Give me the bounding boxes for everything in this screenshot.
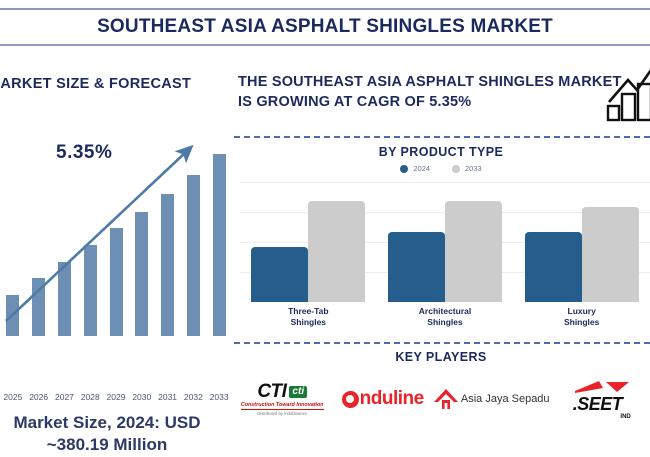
- forecast-bar-column: [52, 136, 78, 336]
- forecast-bar-column: [180, 136, 206, 336]
- forecast-bar: [110, 228, 123, 336]
- asia-jaya-wordmark: Asia Jaya Sepadu: [461, 393, 550, 405]
- market-size-value: Market Size, 2024: USD ~380.19 Million: [0, 412, 232, 457]
- market-size-heading: MARKET SIZE & FORECAST: [0, 76, 191, 92]
- product-category-label: Three-TabShingles: [240, 306, 377, 327]
- player-logo-onduline: nduline: [332, 370, 432, 428]
- legend-label: 2033: [465, 164, 482, 173]
- cti-badge: cti: [289, 386, 307, 398]
- forecast-bar: [6, 295, 19, 336]
- product-category-label: LuxuryShingles: [513, 306, 650, 327]
- forecast-bar: [32, 278, 45, 336]
- forecast-bar-column: [129, 136, 155, 336]
- forecast-bar-column: [0, 136, 26, 336]
- forecast-bar-column: [206, 136, 232, 336]
- product-type-title: BY PRODUCT TYPE: [232, 145, 650, 159]
- forecast-bar-column: [77, 136, 103, 336]
- divider-bottom: [234, 342, 650, 344]
- product-bar: [388, 232, 445, 302]
- seet-wordmark: .SEET: [573, 395, 623, 413]
- forecast-bar-column: [103, 136, 129, 336]
- headline-text: THE SOUTHEAST ASIA ASPHALT SHINGLES MARK…: [238, 72, 628, 112]
- forecast-bar: [213, 154, 226, 336]
- legend-item: 2024: [400, 164, 430, 173]
- product-bar: [582, 207, 639, 302]
- forecast-bar-column: [26, 136, 52, 336]
- forecast-bar: [58, 262, 71, 336]
- legend-color-dot: [452, 165, 460, 173]
- key-players-row: CTI cti Construction Toward Innovation D…: [232, 370, 650, 428]
- player-logo-asia-jaya-sepadu: Asia Jaya Sepadu: [433, 370, 550, 428]
- player-logo-seet: .SEET IND: [550, 370, 650, 428]
- divider-top: [234, 136, 650, 138]
- forecast-bar-column: [155, 136, 181, 336]
- forecast-bar: [161, 194, 174, 336]
- product-category-labels: Three-TabShinglesArchitecturalShinglesLu…: [240, 306, 650, 327]
- product-bar-group: [240, 182, 377, 302]
- key-players-title: KEY PLAYERS: [232, 350, 650, 364]
- market-forecast-chart: [0, 116, 232, 336]
- onduline-wordmark: nduline: [360, 388, 424, 410]
- forecast-year-label: 2029: [103, 392, 129, 402]
- legend-label: 2024: [413, 164, 430, 173]
- product-bar: [251, 247, 308, 302]
- seet-roof-icon: [573, 379, 631, 395]
- forecast-bars: [0, 136, 232, 336]
- forecast-year-labels: 202520262027202820292030203120322033: [0, 392, 232, 402]
- legend-color-dot: [400, 165, 408, 173]
- forecast-bar: [187, 175, 200, 336]
- player-logo-cti: CTI cti Construction Toward Innovation D…: [232, 370, 332, 428]
- market-size-line-1: Market Size, 2024: USD: [0, 412, 232, 434]
- forecast-year-label: 2031: [155, 392, 181, 402]
- product-type-chart: [240, 182, 650, 302]
- cti-distributor: Distributed by Indobitumen: [257, 412, 307, 416]
- page-title-bar: SOUTHEAST ASIA ASPHALT SHINGLES MARKET: [0, 8, 650, 46]
- seet-subline: IND: [620, 414, 630, 420]
- market-size-line-2: ~380.19 Million: [0, 434, 232, 456]
- forecast-bar: [84, 245, 97, 336]
- forecast-year-label: 2026: [26, 392, 52, 402]
- product-bar: [525, 232, 582, 302]
- product-bar-group: [513, 182, 650, 302]
- cti-wordmark: CTI: [257, 382, 286, 401]
- product-category-label: ArchitecturalShingles: [377, 306, 514, 327]
- asia-jaya-roof-icon: [433, 387, 459, 411]
- product-bar-group: [377, 182, 514, 302]
- forecast-bar: [135, 212, 148, 336]
- product-bar: [445, 201, 502, 302]
- forecast-year-label: 2027: [52, 392, 78, 402]
- forecast-year-label: 2025: [0, 392, 26, 402]
- forecast-year-label: 2032: [180, 392, 206, 402]
- infographic-page: SOUTHEAST ASIA ASPHALT SHINGLES MARKET M…: [0, 0, 650, 434]
- product-bar-groups: [240, 182, 650, 302]
- cti-tagline: Construction Toward Innovation: [241, 403, 324, 409]
- product-bar: [308, 201, 365, 302]
- forecast-year-label: 2033: [206, 392, 232, 402]
- growth-bars-icon: [606, 66, 650, 122]
- forecast-year-label: 2030: [129, 392, 155, 402]
- page-title: SOUTHEAST ASIA ASPHALT SHINGLES MARKET: [97, 16, 553, 38]
- legend-item: 2033: [452, 164, 482, 173]
- market-size-panel: MARKET SIZE & FORECAST 5.35% 20252026202…: [0, 56, 232, 434]
- onduline-o-icon: [342, 391, 359, 408]
- forecast-year-label: 2028: [77, 392, 103, 402]
- right-panel: THE SOUTHEAST ASIA ASPHALT SHINGLES MARK…: [232, 56, 650, 434]
- chart-legend: 20242033: [232, 164, 650, 173]
